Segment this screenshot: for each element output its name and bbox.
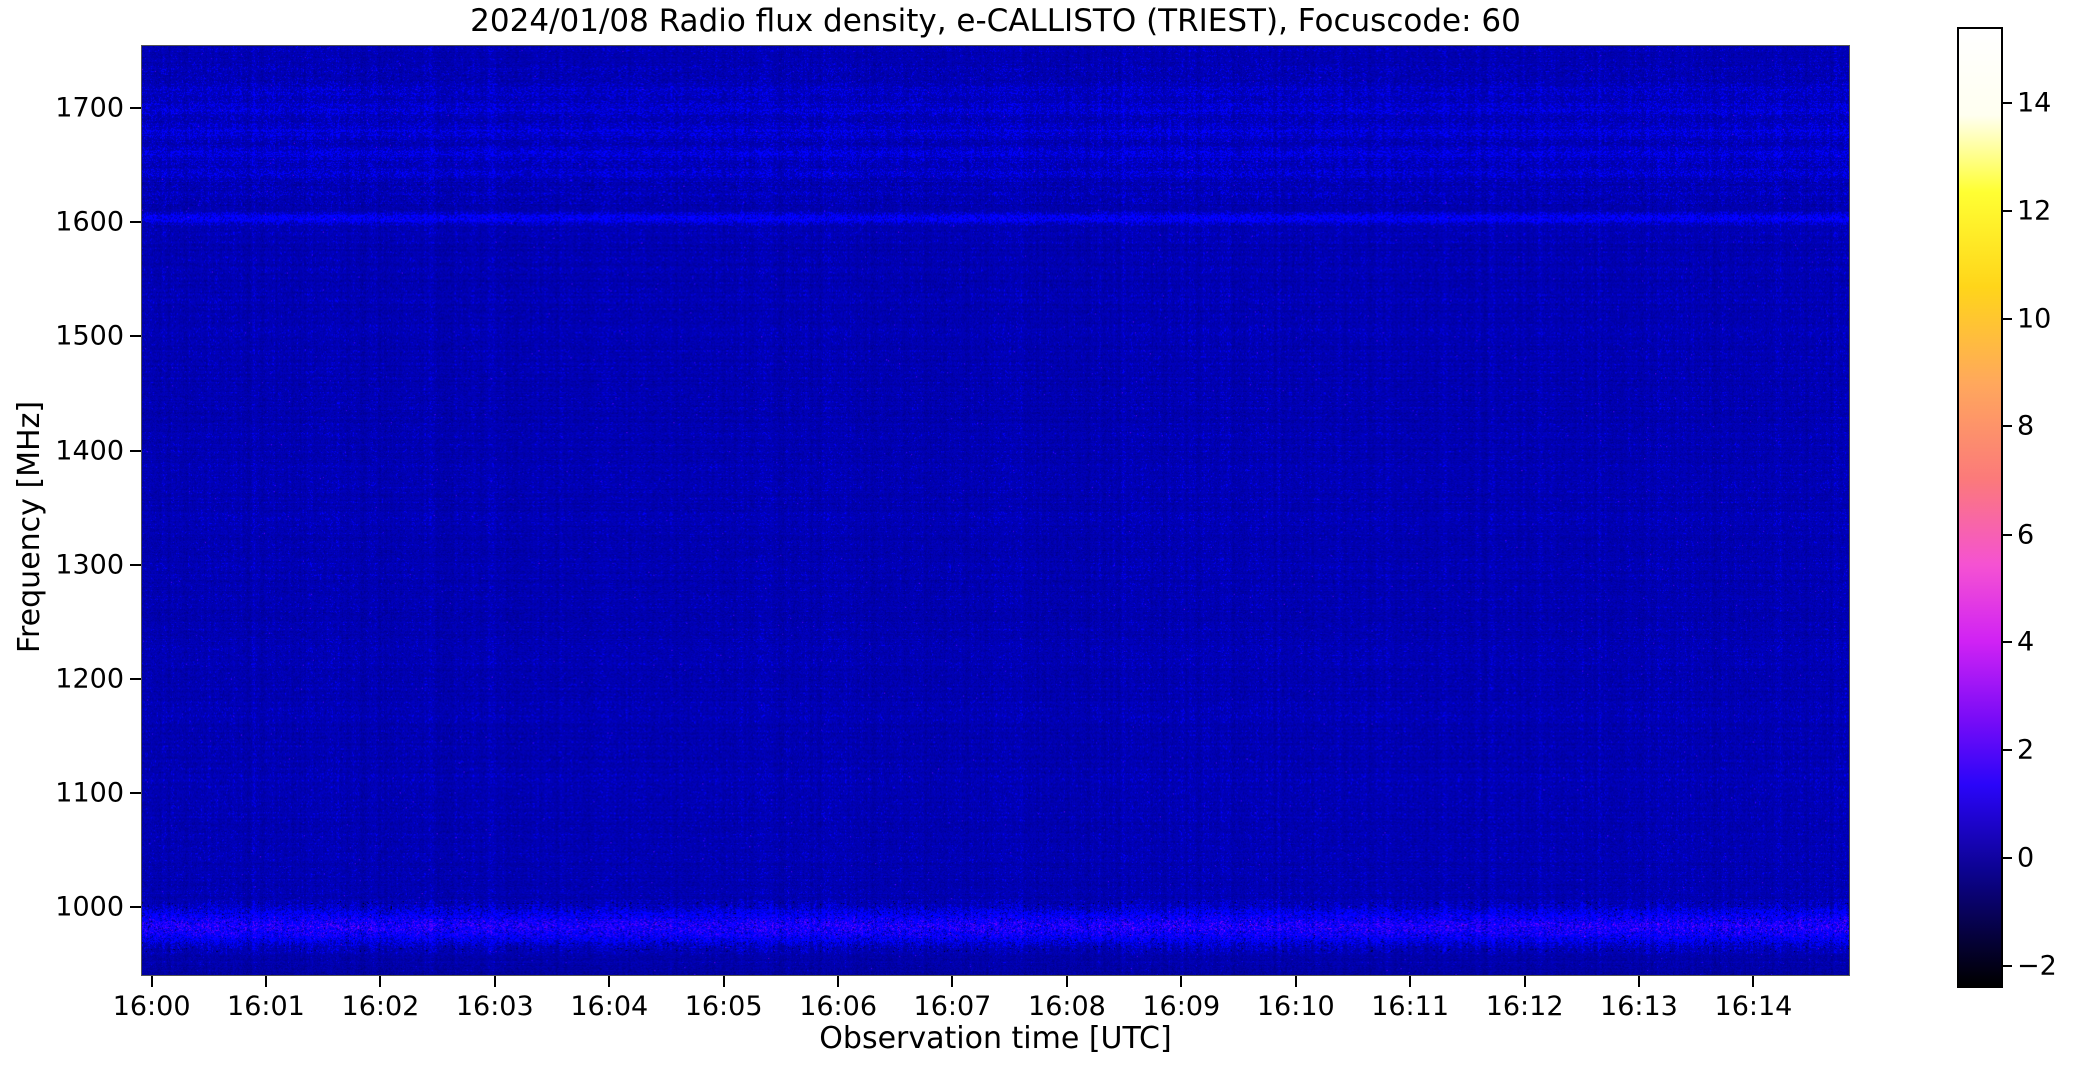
colorbar-tick-label: 2 [2017, 737, 2034, 764]
colorbar-tick-label: 14 [2017, 89, 2051, 116]
colorbar-tick-mark [2003, 210, 2012, 212]
y-tick-mark [130, 335, 141, 337]
x-tick-label: 16:00 [113, 992, 191, 1022]
x-tick-label: 16:13 [1600, 992, 1678, 1022]
x-tick-mark [1295, 976, 1297, 987]
y-tick-mark [130, 678, 141, 680]
y-tick-mark [130, 107, 141, 109]
colorbar-tick-mark [2003, 641, 2012, 643]
spectrogram-axes[interactable] [141, 45, 1850, 976]
colorbar-tick-mark [2003, 425, 2012, 427]
x-tick-label: 16:06 [799, 992, 877, 1022]
page-title: 2024/01/08 Radio flux density, e-CALLIST… [141, 3, 1850, 39]
colorbar-tick-label: 8 [2017, 413, 2034, 440]
colorbar-tick-mark [2003, 857, 2012, 859]
x-tick-mark [1752, 976, 1754, 987]
x-tick-label: 16:11 [1371, 992, 1449, 1022]
x-tick-label: 16:05 [685, 992, 763, 1022]
colorbar-tick-mark [2003, 318, 2012, 320]
colorbar-tick-mark [2003, 102, 2012, 104]
y-axis-label: Frequency [MHz] [13, 177, 47, 877]
x-tick-mark [951, 976, 953, 987]
x-tick-mark [608, 976, 610, 987]
spectrogram-image [142, 46, 1849, 975]
figure-canvas: 2024/01/08 Radio flux density, e-CALLIST… [0, 0, 2085, 1067]
x-tick-mark [723, 976, 725, 987]
colorbar-tick-label: 12 [2017, 197, 2051, 224]
colorbar-tick-mark [2003, 534, 2012, 536]
colorbar-tick-label: 0 [2017, 845, 2034, 872]
x-tick-mark [494, 976, 496, 987]
x-tick-label: 16:07 [914, 992, 992, 1022]
x-tick-label: 16:09 [1142, 992, 1220, 1022]
x-tick-label: 16:12 [1486, 992, 1564, 1022]
x-tick-mark [837, 976, 839, 987]
y-tick-label: 1000 [11, 894, 124, 921]
x-tick-label: 16:08 [1028, 992, 1106, 1022]
x-tick-label: 16:14 [1715, 992, 1793, 1022]
x-axis-label: Observation time [UTC] [141, 1022, 1850, 1056]
x-tick-label: 16:02 [342, 992, 420, 1022]
colorbar-tick-label: 4 [2017, 629, 2034, 656]
x-tick-label: 16:03 [456, 992, 534, 1022]
colorbar-tick-mark [2003, 965, 2012, 967]
colorbar-gradient [1957, 27, 2003, 988]
y-tick-label: 1700 [11, 94, 124, 121]
x-tick-mark [1638, 976, 1640, 987]
colorbar-tick-label: −2 [2017, 953, 2057, 980]
x-tick-mark [151, 976, 153, 987]
y-tick-mark [130, 450, 141, 452]
colorbar-tick-label: 6 [2017, 521, 2034, 548]
colorbar-tick-mark [2003, 749, 2012, 751]
x-tick-mark [265, 976, 267, 987]
x-tick-mark [379, 976, 381, 987]
y-tick-mark [130, 792, 141, 794]
x-tick-mark [1409, 976, 1411, 987]
y-tick-mark [130, 221, 141, 223]
x-tick-label: 16:01 [227, 992, 305, 1022]
y-tick-mark [130, 906, 141, 908]
y-tick-mark [130, 564, 141, 566]
x-tick-mark [1180, 976, 1182, 987]
x-tick-label: 16:04 [570, 992, 648, 1022]
colorbar-tick-label: 10 [2017, 305, 2051, 332]
x-tick-mark [1524, 976, 1526, 987]
x-tick-label: 16:10 [1257, 992, 1335, 1022]
x-tick-mark [1066, 976, 1068, 987]
colorbar-container[interactable] [1957, 27, 2003, 988]
